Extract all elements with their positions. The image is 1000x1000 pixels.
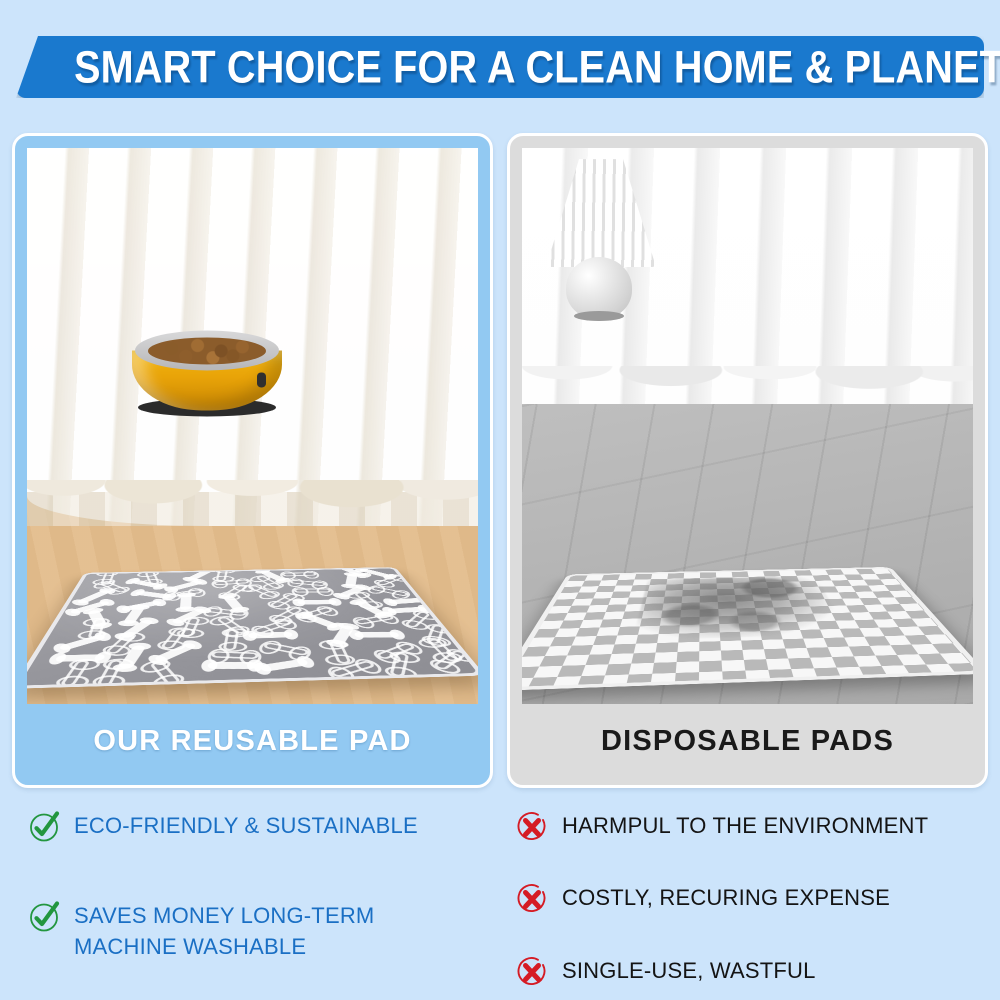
bone-motif	[259, 658, 310, 672]
bone-motif	[389, 652, 409, 677]
x-circle-icon	[516, 956, 548, 988]
bone-motif	[261, 641, 309, 655]
bone-motif	[386, 597, 427, 604]
x-circle-icon	[516, 811, 548, 843]
comparison-card-reusable: OUR REUSABLE PAD	[12, 133, 493, 788]
benefit-label: SAVES MONEY LONG-TERM MACHINE WASHABLE	[74, 900, 374, 962]
bone-motif	[205, 607, 247, 616]
bone-motif	[58, 660, 90, 686]
check-circle-icon	[28, 811, 60, 843]
scene-reusable	[27, 148, 478, 704]
disposable-pad-object	[522, 566, 973, 690]
disposable-pad-photo	[522, 148, 973, 704]
scene-disposable	[522, 148, 973, 704]
drawback-label: COSTLY, RECURING EXPENSE	[562, 882, 890, 913]
reusable-pad-photo	[27, 148, 478, 704]
bone-motif	[248, 631, 293, 638]
x-circle-icon	[516, 883, 548, 915]
benefit-item: SAVES MONEY LONG-TERM MACHINE WASHABLE	[28, 900, 374, 962]
bone-motif	[281, 572, 317, 576]
bowl-tag	[257, 373, 266, 388]
dog-bowl	[132, 331, 282, 417]
bone-motif	[148, 660, 181, 686]
check-circle-icon	[28, 901, 60, 933]
bone-motif	[374, 574, 404, 585]
bone-pattern	[27, 568, 477, 685]
bone-motif	[289, 579, 326, 586]
curtain-hem	[27, 492, 478, 526]
benefit-label-line: MACHINE WASHABLE	[74, 934, 306, 959]
benefit-label-line: SAVES MONEY LONG-TERM	[74, 903, 374, 928]
stain-mark	[633, 575, 847, 639]
page-title: SMART CHOICE FOR A CLEAN HOME & PLANET	[74, 45, 926, 90]
bone-motif	[222, 629, 239, 650]
header-banner: SMART CHOICE FOR A CLEAN HOME & PLANET	[16, 36, 984, 98]
card-caption-reusable: OUR REUSABLE PAD	[15, 698, 490, 785]
benefit-label: ECO-FRIENDLY & SUSTAINABLE	[74, 810, 418, 841]
bone-motif	[354, 631, 401, 637]
drawback-item: SINGLE-USE, WASTFUL	[516, 955, 816, 988]
bone-motif	[179, 594, 191, 610]
benefit-item: ECO-FRIENDLY & SUSTAINABLE	[28, 810, 418, 843]
comparison-card-disposable: DISPOSABLE PADS	[507, 133, 988, 788]
kibble	[148, 338, 266, 365]
bone-motif	[210, 651, 258, 659]
lamp-base	[566, 257, 632, 319]
card-caption-disposable: DISPOSABLE PADS	[510, 698, 985, 785]
bone-motif	[296, 599, 336, 604]
comparison-bullets: ECO-FRIENDLY & SUSTAINABLE SAVES MONEY L…	[0, 800, 1000, 1000]
drawback-label: HARMPUL TO THE ENVIRONMENT	[562, 810, 928, 841]
lamp-shade	[546, 159, 656, 267]
bone-motif	[207, 662, 256, 669]
table-lamp	[540, 159, 660, 329]
reusable-pad-object	[27, 567, 478, 689]
drawback-item: COSTLY, RECURING EXPENSE	[516, 882, 890, 915]
drawback-item: HARMPUL TO THE ENVIRONMENT	[516, 810, 928, 843]
bone-motif	[293, 588, 331, 592]
lamp-foot	[574, 311, 624, 321]
bone-motif	[215, 568, 228, 580]
drawback-label: SINGLE-USE, WASTFUL	[562, 955, 816, 986]
bone-motif	[327, 640, 351, 663]
